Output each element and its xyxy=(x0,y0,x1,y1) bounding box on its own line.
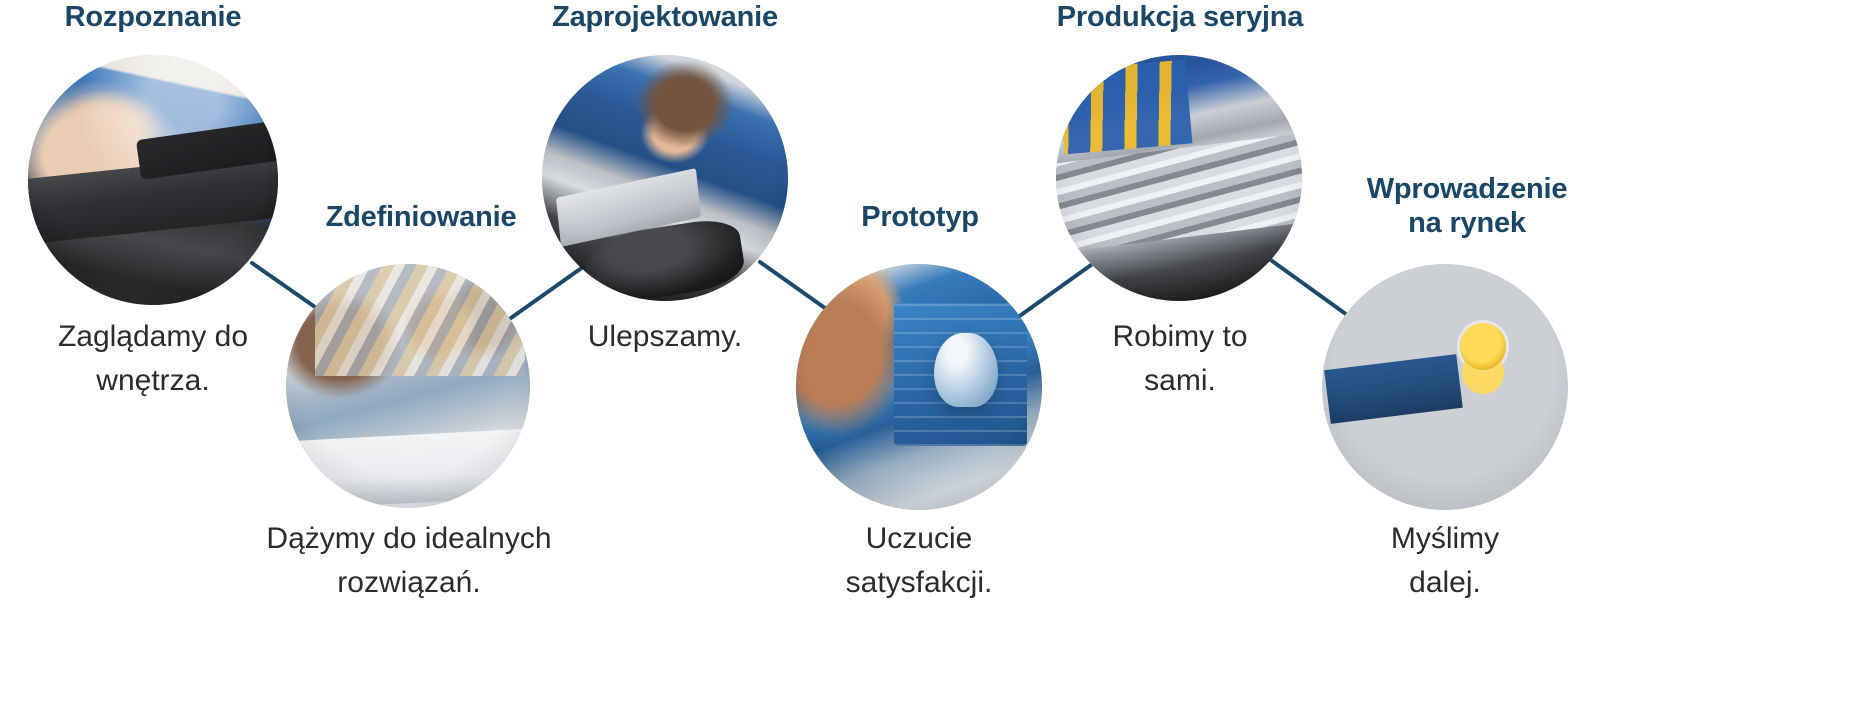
photo-vignette xyxy=(286,264,530,508)
process-infographic: Rozpoznanie Zaglądamy do wnętrza. Zdefin… xyxy=(0,0,1869,705)
step-caption-wprowadzenie-na-rynek: Myślimy dalej. xyxy=(1305,517,1585,605)
photo-vignette xyxy=(1322,264,1568,510)
photo-vignette xyxy=(28,55,278,305)
step-title-zdefiniowanie: Zdefiniowanie xyxy=(295,200,547,234)
photo-vignette xyxy=(796,264,1042,510)
step-circle-zaprojektowanie[interactable] xyxy=(542,55,788,301)
step-circle-prototyp[interactable] xyxy=(796,264,1042,510)
step-circle-wprowadzenie-na-rynek[interactable] xyxy=(1322,264,1568,510)
step-title-zaprojektowanie: Zaprojektowanie xyxy=(538,0,792,34)
step-caption-zaprojektowanie: Ulepszamy. xyxy=(525,315,805,359)
step-circle-produkcja-seryjna[interactable] xyxy=(1056,55,1302,301)
step-caption-zdefiniowanie: Dążymy do idealnych rozwiązań. xyxy=(254,517,564,605)
step-caption-rozpoznanie: Zaglądamy do wnętrza. xyxy=(13,315,293,403)
step-title-wprowadzenie-na-rynek: Wprowadzenie na rynek xyxy=(1322,172,1612,240)
step-title-prototyp: Prototyp xyxy=(800,200,1040,234)
step-caption-prototyp: Uczucie satysfakcji. xyxy=(779,517,1059,605)
photo-vignette xyxy=(1056,55,1302,301)
step-circle-rozpoznanie[interactable] xyxy=(28,55,278,305)
photo-vignette xyxy=(542,55,788,301)
step-circle-zdefiniowanie[interactable] xyxy=(286,264,530,508)
step-title-produkcja-seryjna: Produkcja seryjna xyxy=(1050,0,1310,34)
step-title-rozpoznanie: Rozpoznanie xyxy=(28,0,278,34)
step-caption-produkcja-seryjna: Robimy to sami. xyxy=(1040,315,1320,403)
